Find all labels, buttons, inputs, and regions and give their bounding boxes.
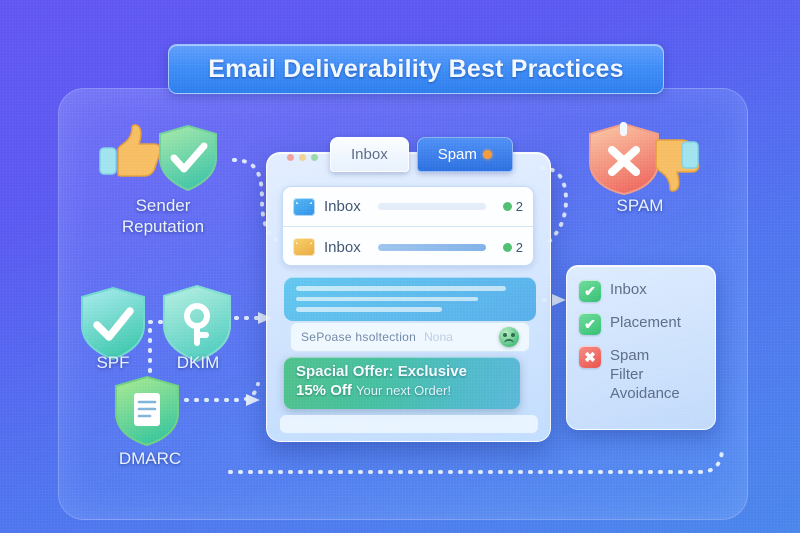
skeleton-line xyxy=(296,297,478,302)
cross-glyph: ✖ xyxy=(579,346,601,368)
mail-row-count: 2 xyxy=(503,240,523,255)
tab-spam-label: Spam xyxy=(438,146,477,163)
tab-inbox-label: Inbox xyxy=(351,146,388,163)
tab-spam[interactable]: Spam xyxy=(417,137,513,172)
window-close-dot[interactable] xyxy=(287,154,294,161)
protection-status-row[interactable]: SePoase hsoltection Nona xyxy=(290,322,530,352)
node-spf xyxy=(78,285,148,361)
sender-reputation-icon-group xyxy=(96,122,226,194)
mail-row[interactable]: Inbox 2 xyxy=(283,227,533,266)
shield-check-icon xyxy=(78,285,148,361)
promo-banner[interactable]: Spacial Offer: Exclusive 15% Off Your ne… xyxy=(284,357,520,409)
tab-inbox[interactable]: Inbox xyxy=(330,137,409,172)
skeleton-line xyxy=(296,286,506,291)
cross-box-icon: ✖ xyxy=(579,346,601,368)
check-glyph: ✔ xyxy=(579,313,601,335)
result-label-spam-filter-avoidance: Spam Filter Avoidance xyxy=(610,346,680,403)
shield-document-icon xyxy=(112,375,182,447)
node-sender-reputation xyxy=(96,122,226,192)
result-item-spam-filter-avoidance: ✖ Spam Filter Avoidance xyxy=(579,346,703,403)
check-box-icon: ✔ xyxy=(579,280,601,302)
mail-row-preview-bar xyxy=(378,244,486,251)
promo-subline: 15% Off Your next Order! xyxy=(296,382,508,399)
status-dot-icon xyxy=(503,243,512,252)
shield-x-icon xyxy=(590,122,658,194)
status-dot-icon xyxy=(503,202,512,211)
node-label-dmarc: DMARC xyxy=(65,448,235,469)
thumbs-up-icon xyxy=(100,125,161,176)
envelope-blue-icon xyxy=(293,198,315,216)
protection-status-subtext: Nona xyxy=(424,330,453,344)
window-maximize-dot[interactable] xyxy=(311,154,318,161)
window-footer-bar xyxy=(280,415,538,433)
skeleton-line xyxy=(296,307,442,312)
mail-row-label: Inbox xyxy=(324,198,361,215)
promo-discount: 15% Off xyxy=(296,382,352,399)
page-title: Email Deliverability Best Practices xyxy=(208,55,624,84)
tab-spam-badge-icon xyxy=(483,150,492,159)
message-skeleton-block xyxy=(284,277,536,321)
result-item-placement: ✔ Placement xyxy=(579,313,703,335)
result-label-placement: Placement xyxy=(610,313,681,332)
shield-check-icon xyxy=(160,126,216,190)
shield-key-icon xyxy=(160,283,234,363)
window-minimize-dot[interactable] xyxy=(299,154,306,161)
node-spam xyxy=(586,122,702,194)
check-box-icon: ✔ xyxy=(579,313,601,335)
frowning-face-icon xyxy=(499,327,519,347)
node-dkim xyxy=(160,283,234,363)
mail-list: Inbox 2 Inbox 2 xyxy=(282,186,534,266)
mail-tabs: Inbox Spam xyxy=(330,137,513,172)
mail-row-count-value: 2 xyxy=(516,240,523,255)
promo-headline: Spacial Offer: Exclusive xyxy=(296,363,508,380)
mail-row[interactable]: Inbox 2 xyxy=(283,187,533,227)
diagram-canvas: Email Deliverability Best Practices Send… xyxy=(0,0,800,533)
result-item-inbox: ✔ Inbox xyxy=(579,280,703,302)
results-panel: ✔ Inbox ✔ Placement ✖ Spam Filter Avoida… xyxy=(566,265,716,430)
node-label-sender-reputation: Sender Reputation xyxy=(78,195,248,237)
thumbs-down-icon xyxy=(656,140,699,191)
result-label-inbox: Inbox xyxy=(610,280,647,299)
page-title-bar: Email Deliverability Best Practices xyxy=(168,44,664,94)
mail-row-count: 2 xyxy=(503,199,523,214)
spam-icon-group xyxy=(586,122,702,196)
mail-row-preview-placeholder xyxy=(378,203,486,210)
envelope-amber-icon xyxy=(293,238,315,256)
mail-row-label: Inbox xyxy=(324,239,361,256)
protection-status-text: SePoase hsoltection xyxy=(301,330,416,344)
promo-tail: Your next Order! xyxy=(356,383,451,398)
check-glyph: ✔ xyxy=(579,280,601,302)
node-dmarc xyxy=(112,375,182,447)
node-label-dkim: DKIM xyxy=(113,352,283,373)
mail-row-count-value: 2 xyxy=(516,199,523,214)
node-label-spam: SPAM xyxy=(555,195,725,216)
